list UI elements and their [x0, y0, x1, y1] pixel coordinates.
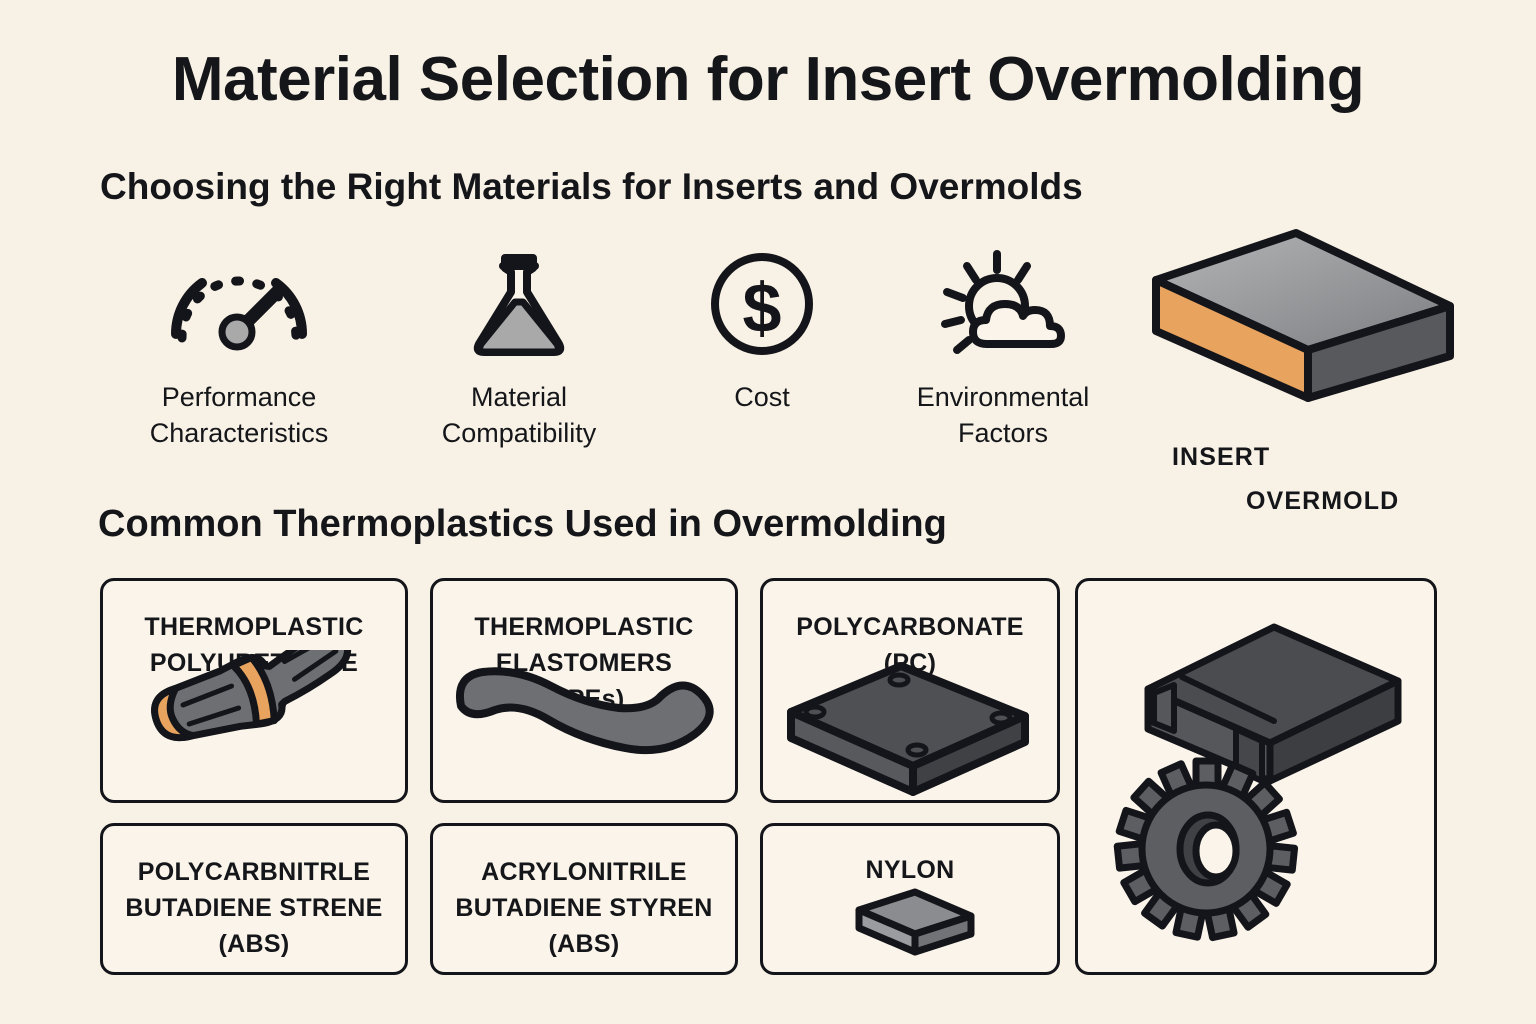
feature-label-line1: Performance [124, 380, 354, 416]
overmold-label: OVERMOLD [1246, 487, 1399, 516]
insert-label: INSERT [1172, 443, 1270, 472]
card-label-line1: THERMOPLASTIC [113, 609, 395, 645]
feature-label-line2: Factors [888, 416, 1118, 452]
feature-label: Environmental Factors [888, 380, 1118, 451]
feature-cost: $ Cost [647, 248, 877, 416]
infographic-page: Material Selection for Insert Overmoldin… [0, 0, 1536, 1024]
card-label: POLYCARBNITRLE BUTADIENE STRENE (ABS) [103, 854, 405, 962]
enclosure-plate-icon [763, 650, 1057, 800]
card-label-line2: BUTADIENE STYREN [443, 890, 725, 926]
tool-handle-icon [103, 650, 405, 800]
card-label: ACRYLONITRILE BUTADIENE STYREN (ABS) [433, 854, 735, 962]
feature-label-line2: Compatibility [404, 416, 634, 452]
material-card-tpu[interactable]: THERMOPLASTIC POLYURETHANE (TPU) [100, 578, 408, 803]
material-gallery-panel[interactable] [1075, 578, 1437, 975]
material-card-nylon[interactable]: NYLON [760, 823, 1060, 975]
section-title: Common Thermoplastics Used in Overmoldin… [98, 503, 947, 546]
feature-environmental-factors: Environmental Factors [888, 248, 1118, 451]
gear-icon [1117, 761, 1294, 938]
flask-icon [404, 248, 634, 360]
feature-label: Cost [647, 380, 877, 416]
feature-label: Performance Characteristics [124, 380, 354, 451]
feature-label-line1: Material [404, 380, 634, 416]
card-label-line3: (ABS) [113, 926, 395, 962]
feature-label-line1: Cost [647, 380, 877, 416]
card-label-line2: BUTADIENE STRENE [113, 890, 395, 926]
page-subtitle: Choosing the Right Materials for Inserts… [100, 166, 1083, 208]
dollar-coin-icon: $ [647, 248, 877, 360]
sun-cloud-icon [888, 248, 1118, 360]
page-title: Material Selection for Insert Overmoldin… [0, 44, 1536, 115]
material-card-abs-1[interactable]: POLYCARBNITRLE BUTADIENE STRENE (ABS) [100, 823, 408, 975]
card-label-line1: POLYCARBONATE [773, 609, 1047, 645]
card-label-line1: THERMOPLASTIC [443, 609, 725, 645]
gallery-art [1078, 581, 1434, 972]
feature-label: Material Compatibility [404, 380, 634, 451]
feature-label-line1: Environmental [888, 380, 1118, 416]
card-label-line1: POLYCARBNITRLE [113, 854, 395, 890]
gasket-seal-icon [433, 650, 735, 800]
gauge-icon [124, 248, 354, 360]
material-card-abs-2[interactable]: ACRYLONITRILE BUTADIENE STYREN (ABS) [430, 823, 738, 975]
isometric-block-icon [1148, 228, 1458, 448]
card-label-line1: ACRYLONITRILE [443, 854, 725, 890]
svg-text:$: $ [742, 269, 781, 347]
feature-performance-characteristics: Performance Characteristics [124, 248, 354, 451]
nylon-bar-icon [763, 876, 1057, 972]
material-card-tpe[interactable]: THERMOPLASTIC ELASTOMERS (TPEs) [430, 578, 738, 803]
material-card-pc[interactable]: POLYCARBONATE (PC) [760, 578, 1060, 803]
feature-material-compatibility: Material Compatibility [404, 248, 634, 451]
housing-shell-icon [1148, 627, 1398, 781]
card-label-line3: (ABS) [443, 926, 725, 962]
feature-label-line2: Characteristics [124, 416, 354, 452]
